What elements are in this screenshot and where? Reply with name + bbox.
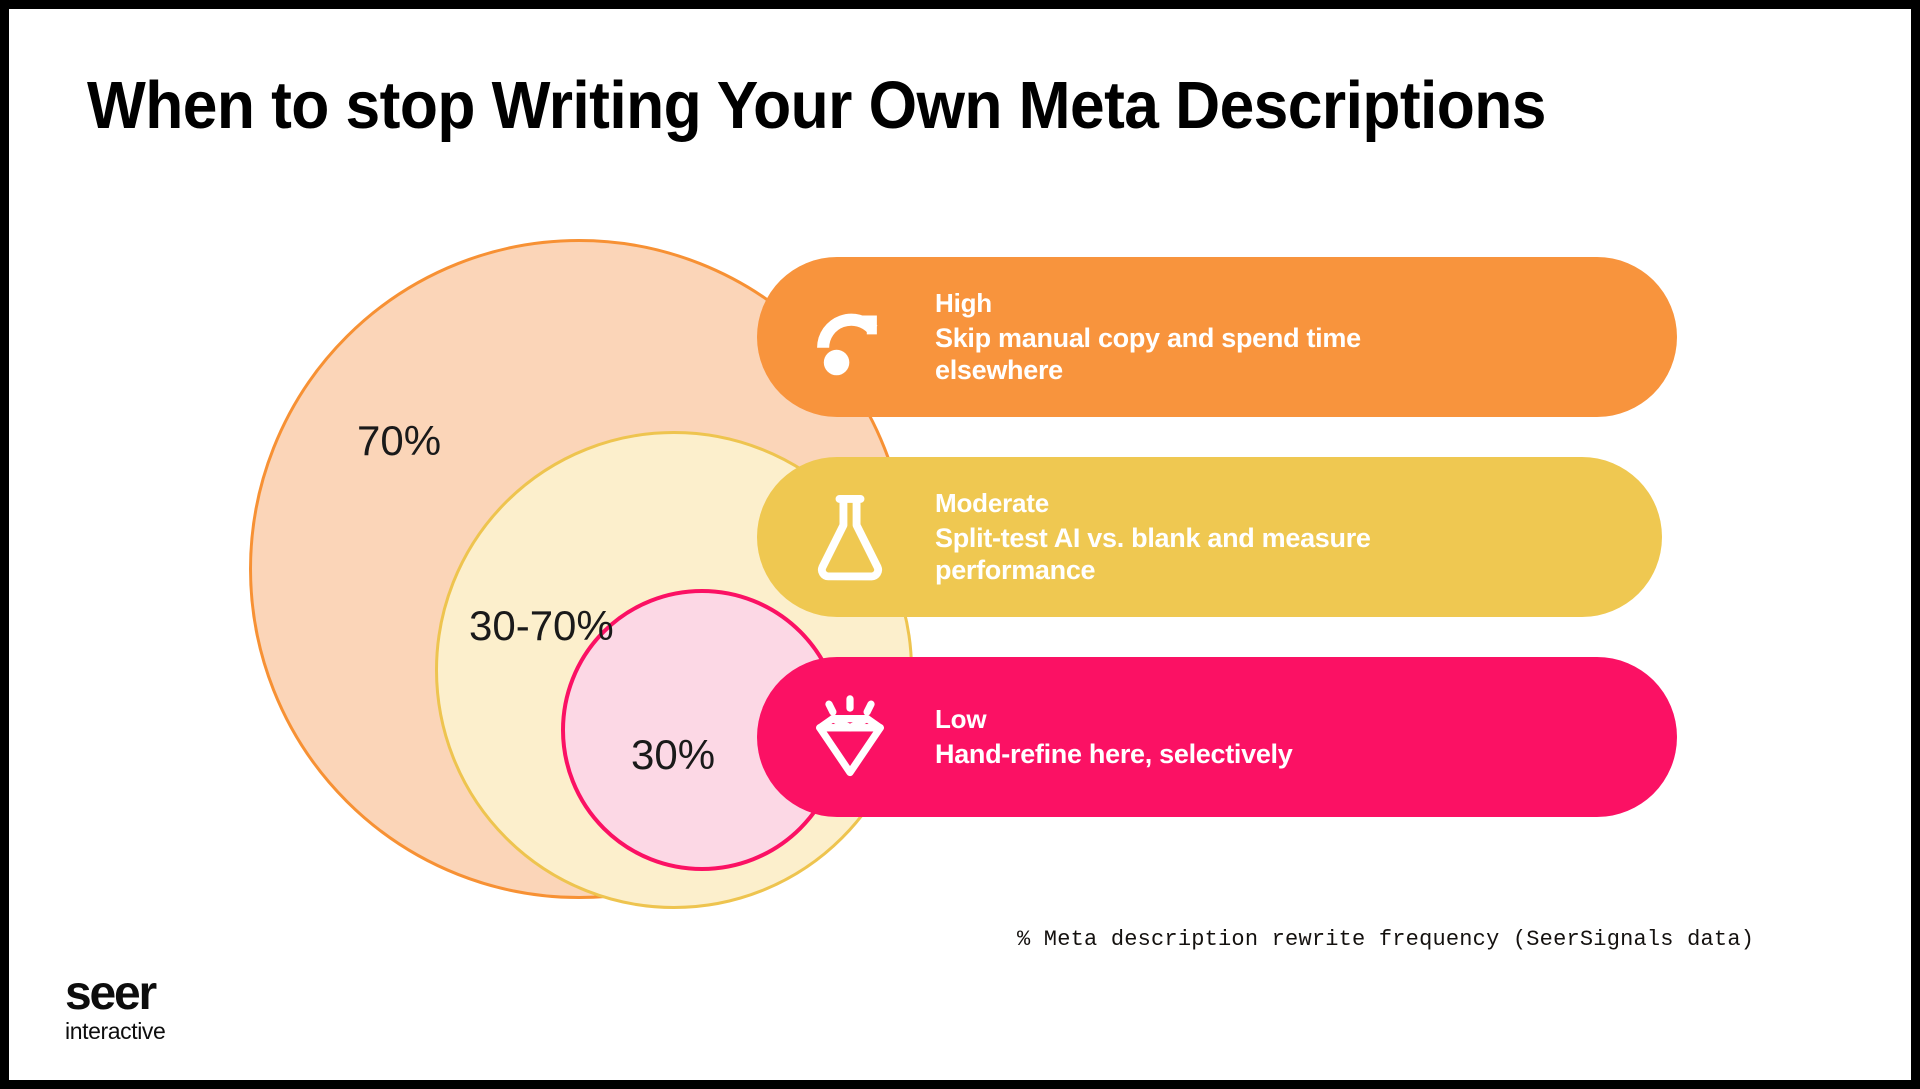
legend-row-moderate: Moderate Split-test AI vs. blank and mea… bbox=[757, 457, 1662, 617]
legend-text-moderate: Moderate Split-test AI vs. blank and mea… bbox=[925, 487, 1662, 586]
venn-label-moderate: 30-70% bbox=[469, 602, 614, 650]
legend-desc-low: Hand-refine here, selectively bbox=[935, 739, 1405, 771]
legend-title-moderate: Moderate bbox=[935, 487, 1662, 520]
legend-title-low: Low bbox=[935, 703, 1677, 736]
legend-row-low: Low Hand-refine here, selectively bbox=[757, 657, 1677, 817]
page-title: When to stop Writing Your Own Meta Descr… bbox=[87, 71, 1724, 141]
legend-row-high: High Skip manual copy and spend time els… bbox=[757, 257, 1677, 417]
seer-interactive-logo: seer interactive bbox=[65, 971, 295, 1044]
redo-arrow-icon bbox=[775, 285, 925, 389]
legend-text-low: Low Hand-refine here, selectively bbox=[925, 703, 1677, 770]
flask-icon bbox=[775, 485, 925, 589]
logo-subtitle: interactive bbox=[65, 1019, 295, 1044]
venn-label-high: 70% bbox=[357, 417, 441, 465]
diamond-icon bbox=[775, 685, 925, 789]
legend-title-high: High bbox=[935, 287, 1677, 320]
legend-desc-moderate: Split-test AI vs. blank and measure perf… bbox=[935, 523, 1405, 587]
legend-text-high: High Skip manual copy and spend time els… bbox=[925, 287, 1677, 386]
chart-caption: % Meta description rewrite frequency (Se… bbox=[1017, 927, 1754, 952]
infographic-canvas: When to stop Writing Your Own Meta Descr… bbox=[0, 0, 1920, 1089]
logo-wordmark: seer bbox=[65, 971, 295, 1017]
venn-label-low: 30% bbox=[631, 731, 715, 779]
legend-desc-high: Skip manual copy and spend time elsewher… bbox=[935, 323, 1405, 387]
